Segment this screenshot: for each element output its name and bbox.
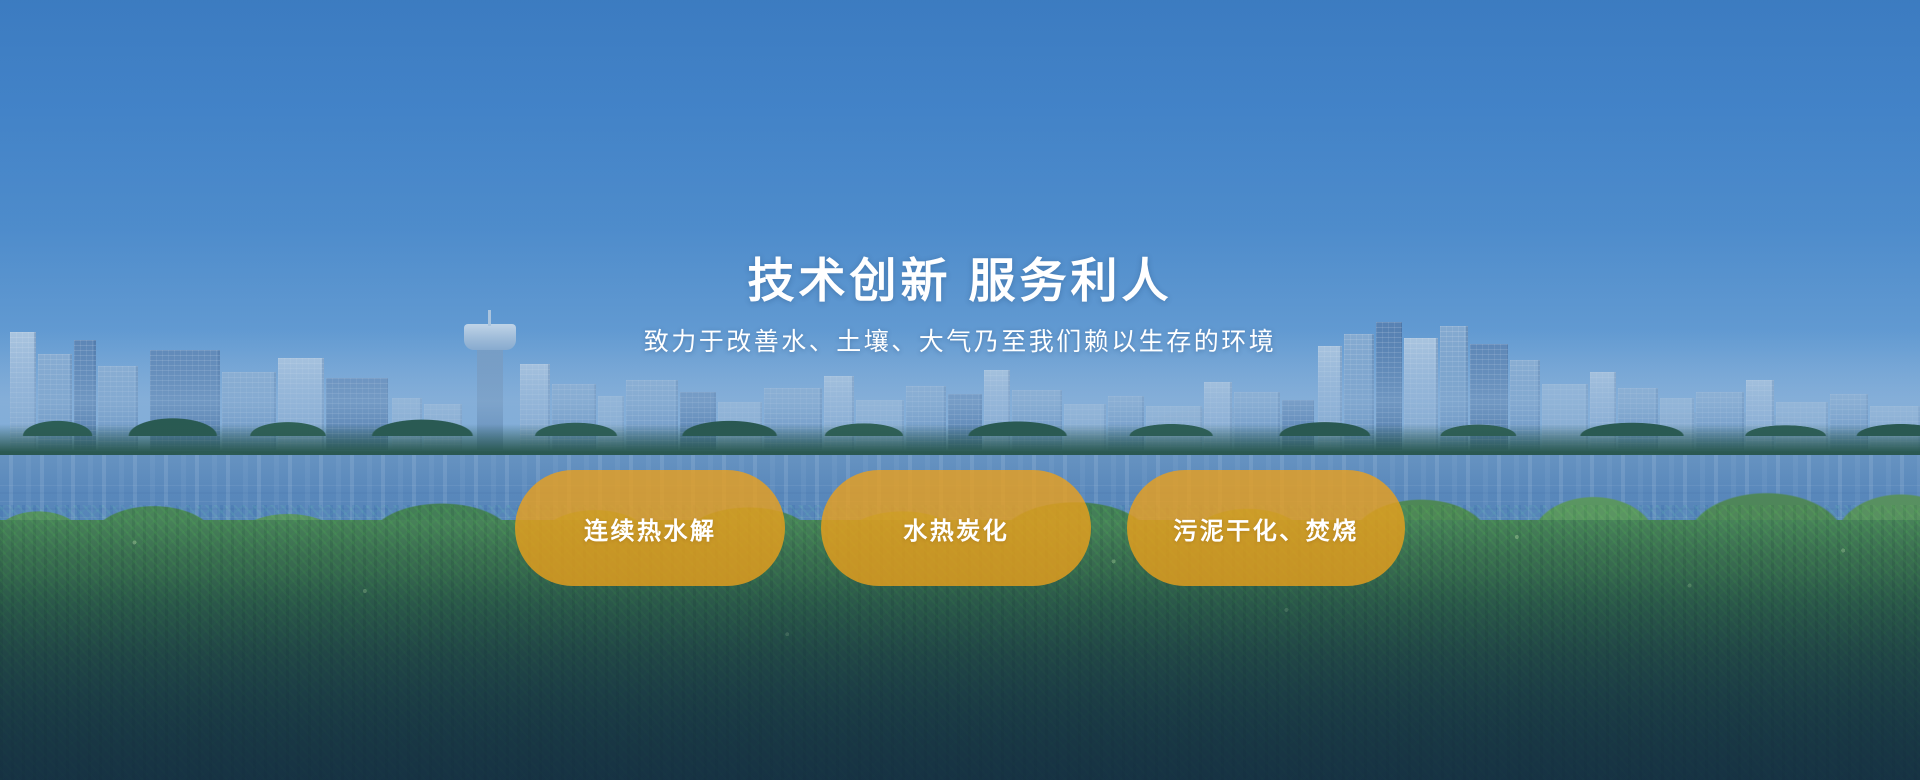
cta-button-label: 连续热水解 <box>584 511 717 546</box>
page-subtitle: 致力于改善水、土壤、大气乃至我们赖以生存的环境 <box>0 325 1920 360</box>
cta-button-label: 污泥干化、焚烧 <box>1173 511 1359 546</box>
page-title: 技术创新 服务利人 <box>0 252 1920 309</box>
cta-button-label: 水热炭化 <box>903 511 1009 546</box>
vegetation-shadow <box>0 570 1920 780</box>
cta-button-hydrothermal-carbonization[interactable]: 水热炭化 <box>821 470 1091 586</box>
hero-copy: 技术创新 服务利人 致力于改善水、土壤、大气乃至我们赖以生存的环境 <box>0 252 1920 360</box>
cta-button-sludge-drying-incineration[interactable]: 污泥干化、焚烧 <box>1127 470 1405 586</box>
cta-button-continuous-thermal-hydrolysis[interactable]: 连续热水解 <box>515 470 785 586</box>
cta-button-row: 连续热水解 水热炭化 污泥干化、焚烧 <box>0 470 1920 586</box>
hero-banner: 技术创新 服务利人 致力于改善水、土壤、大气乃至我们赖以生存的环境 连续热水解 … <box>0 0 1920 780</box>
